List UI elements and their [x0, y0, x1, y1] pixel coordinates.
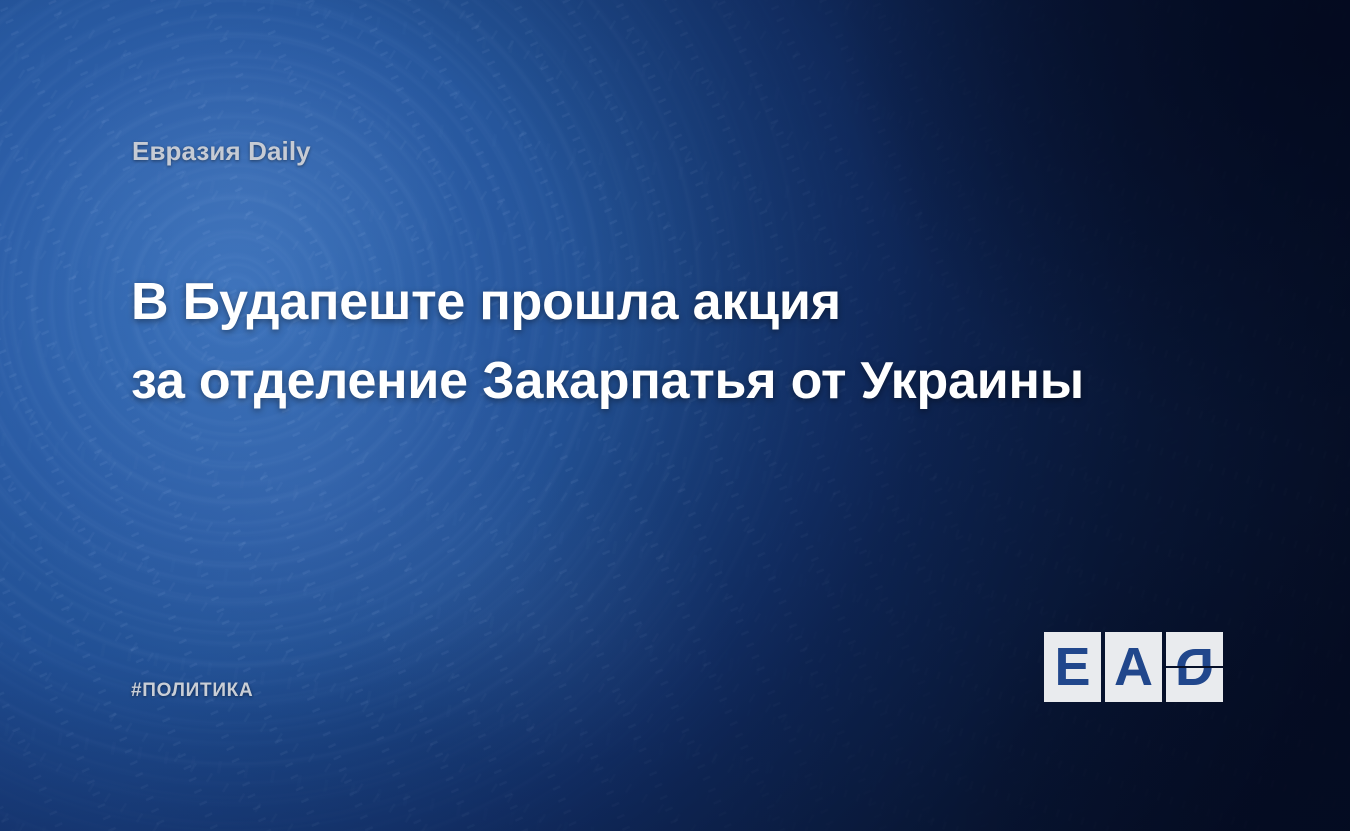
logo-tile-d: D D [1166, 632, 1223, 702]
article-cover-card: Евразия Daily В Будапеште прошла акция з… [0, 0, 1350, 831]
logo-letter-a: A [1105, 632, 1162, 702]
logo-letter-e: E [1044, 632, 1101, 702]
ead-logo[interactable]: E A D D [1044, 632, 1224, 702]
brand-title: Евразия Daily [132, 136, 311, 167]
logo-tile-d-top-half: D [1166, 632, 1223, 666]
page-title: В Будапеште прошла акция за отделение За… [131, 263, 1201, 421]
logo-letter-d-bottom: D [1166, 668, 1223, 702]
headline-line-2: за отделение Закарпатья от Украины [131, 342, 1201, 421]
logo-tile-a: A [1105, 632, 1162, 702]
logo-tile-d-bottom-half: D [1166, 668, 1223, 702]
cover-content: Евразия Daily В Будапеште прошла акция з… [0, 0, 1350, 831]
logo-letter-d-top: D [1166, 632, 1223, 666]
category-hashtag[interactable]: #ПОЛИТИКА [131, 680, 253, 702]
logo-tile-e: E [1044, 632, 1101, 702]
headline-line-1: В Будапеште прошла акция [131, 263, 1201, 342]
